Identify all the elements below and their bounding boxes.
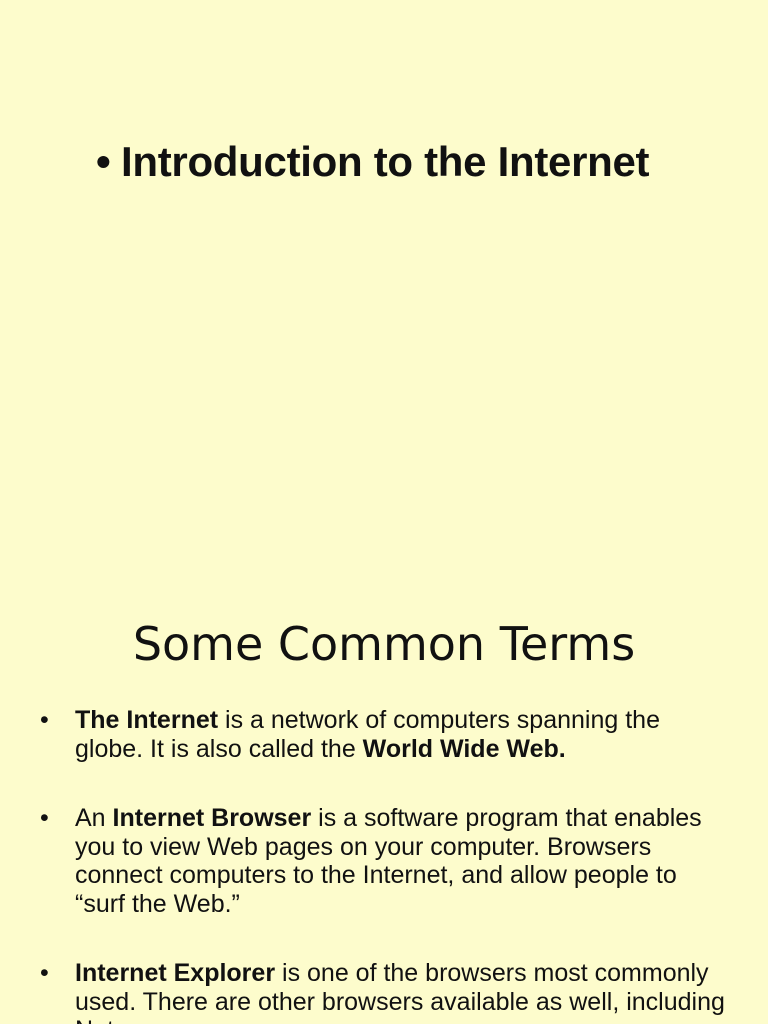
list-item: • An Internet Browser is a software prog… (40, 804, 728, 918)
bullet-dot-icon: • (96, 136, 121, 188)
slide-title-block: • Introduction to the Internet (96, 136, 728, 188)
bullet-dot-icon: • (40, 804, 75, 832)
list-item-text: The Internet is a network of computers s… (75, 706, 728, 763)
page-title: Introduction to the Internet (121, 136, 649, 188)
bullet-dot-icon: • (40, 959, 75, 987)
slide-title-row: • Introduction to the Internet (96, 136, 728, 188)
presentation-slide: • Introduction to the Internet Some Comm… (0, 0, 768, 1024)
section-heading: Some Common Terms (0, 614, 768, 674)
bullet-dot-icon: • (40, 706, 75, 734)
list-item-text: Internet Explorer is one of the browsers… (75, 959, 728, 1024)
list-item: • The Internet is a network of computers… (40, 706, 728, 763)
list-item-text: An Internet Browser is a software progra… (75, 804, 728, 918)
bullet-list: • The Internet is a network of computers… (40, 706, 728, 1024)
list-item: • Internet Explorer is one of the browse… (40, 959, 728, 1024)
